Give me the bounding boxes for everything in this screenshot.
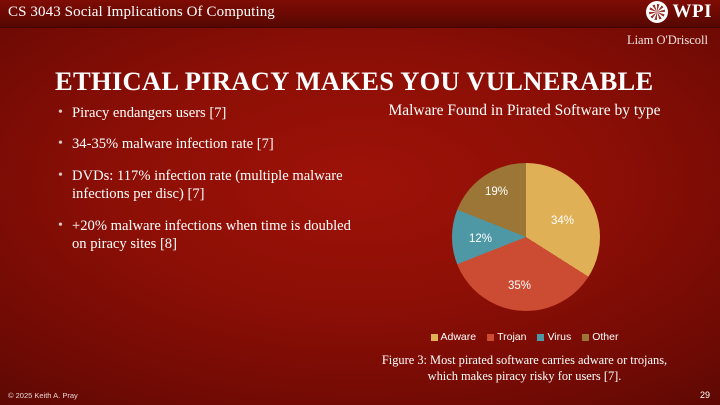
legend-swatch-trojan	[487, 334, 494, 341]
legend-item-trojan: Trojan	[487, 331, 526, 343]
list-item: • Piracy endangers users [7]	[58, 104, 368, 122]
list-item-text: +20% malware infections when time is dou…	[72, 217, 368, 254]
pie-slice-label-adware: 34%	[551, 215, 574, 227]
legend-label-other: Other	[592, 331, 618, 343]
bullet-marker-icon: •	[58, 135, 72, 153]
list-item: • +20% malware infections when time is d…	[58, 217, 368, 254]
list-item-text: DVDs: 117% infection rate (multiple malw…	[72, 167, 368, 204]
pie-chart: 34% 35% 12% 19%	[452, 163, 600, 311]
list-item-text: 34-35% malware infection rate [7]	[72, 135, 368, 153]
pie-slice-label-virus: 12%	[469, 233, 492, 245]
wpi-seal-icon	[646, 1, 668, 23]
list-item: • 34-35% malware infection rate [7]	[58, 135, 368, 153]
copyright-notice: © 2025 Keith A. Pray	[8, 391, 78, 400]
list-item-text: Piracy endangers users [7]	[72, 104, 368, 122]
page-title: ETHICAL PIRACY MAKES YOU VULNERABLE	[55, 66, 654, 97]
bullet-marker-icon: •	[58, 167, 72, 204]
slide-header-bar: CS 3043 Social Implications Of Computing…	[0, 0, 720, 28]
wpi-logo-text: WPI	[673, 1, 713, 23]
bullet-list: • Piracy endangers users [7] • 34-35% ma…	[58, 104, 368, 266]
legend-item-virus: Virus	[537, 331, 571, 343]
pie-slice-label-other: 19%	[485, 186, 508, 198]
chart-legend: Adware Trojan Virus Other	[382, 331, 667, 343]
chart-title: Malware Found in Pirated Software by typ…	[382, 101, 667, 121]
legend-item-other: Other	[582, 331, 618, 343]
page-number: 29	[700, 390, 710, 400]
figure-caption: Figure 3: Most pirated software carries …	[372, 352, 677, 385]
author-name: Liam O'Driscoll	[627, 33, 708, 48]
legend-swatch-virus	[537, 334, 544, 341]
pie-slice-label-trojan: 35%	[508, 280, 531, 292]
bullet-marker-icon: •	[58, 104, 72, 122]
slide: CS 3043 Social Implications Of Computing…	[0, 0, 720, 405]
legend-label-adware: Adware	[441, 331, 477, 343]
bullet-marker-icon: •	[58, 217, 72, 254]
course-title: CS 3043 Social Implications Of Computing	[8, 4, 275, 21]
legend-swatch-other	[582, 334, 589, 341]
legend-label-virus: Virus	[547, 331, 571, 343]
legend-swatch-adware	[431, 334, 438, 341]
wpi-logo: WPI	[646, 1, 713, 23]
legend-label-trojan: Trojan	[497, 331, 526, 343]
legend-item-adware: Adware	[431, 331, 477, 343]
list-item: • DVDs: 117% infection rate (multiple ma…	[58, 167, 368, 204]
